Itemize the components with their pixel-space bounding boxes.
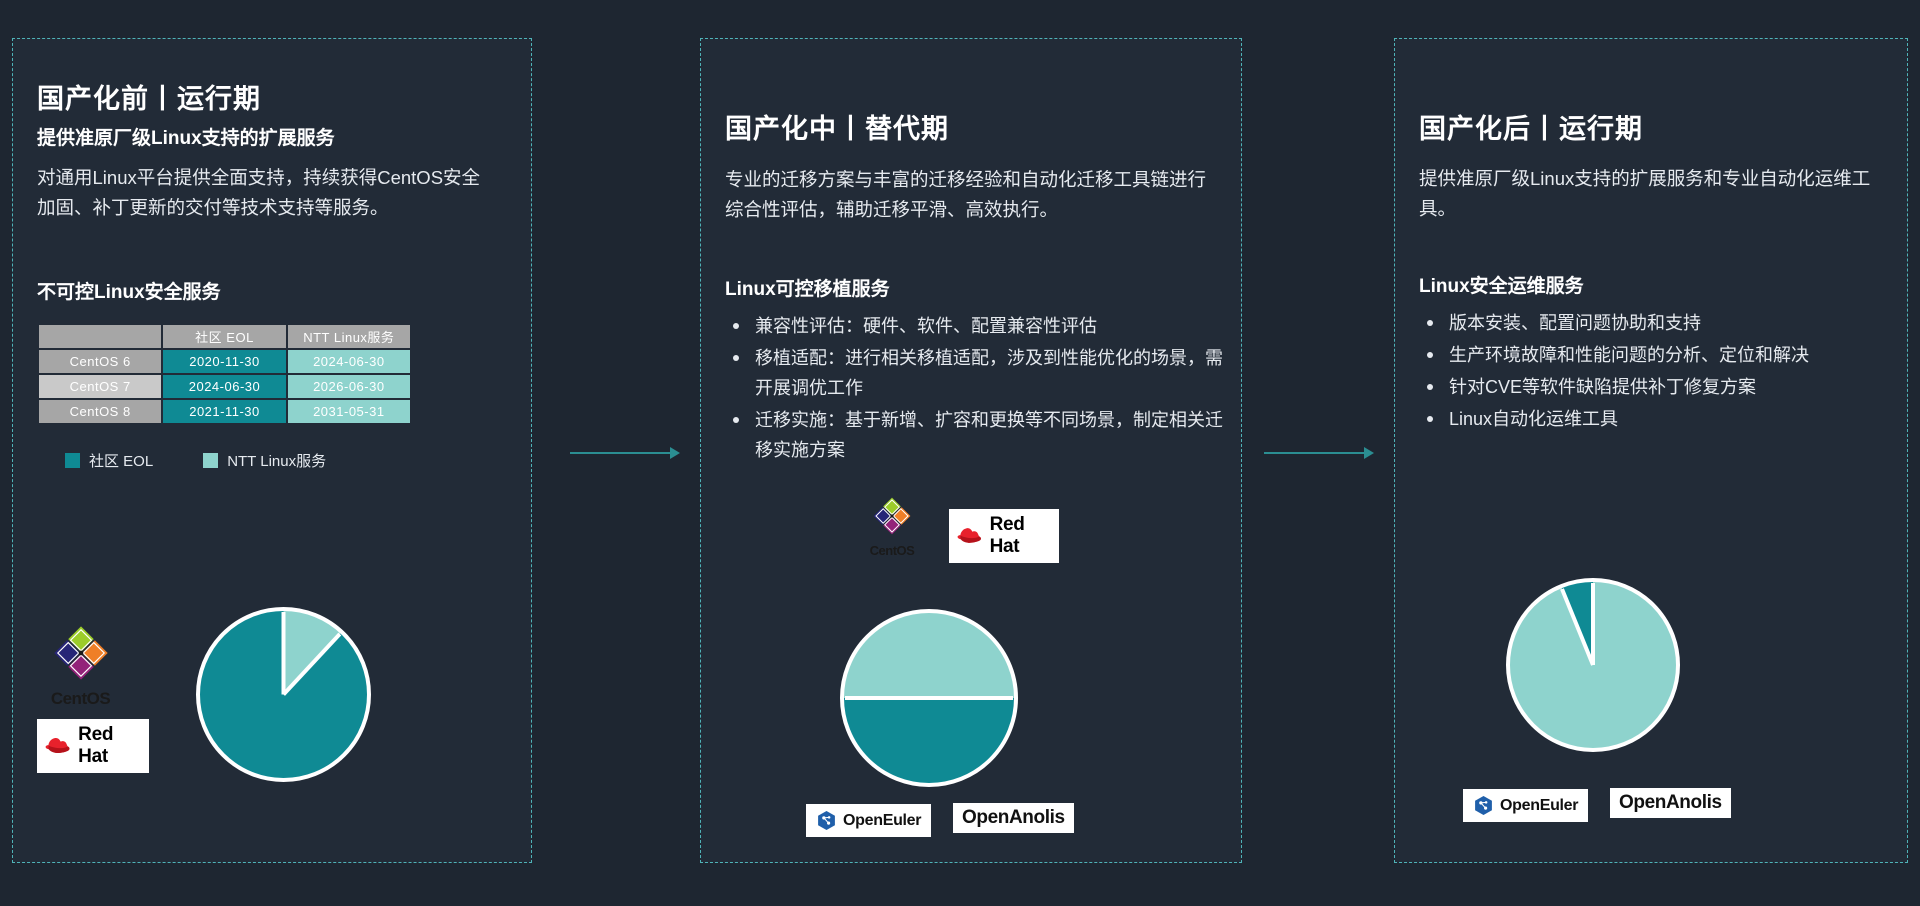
pie-separators [1510,582,1676,748]
legend-label: 社区 EOL [89,450,153,471]
redhat-logo: Red Hat [37,719,149,773]
arrow-connector-1 [570,445,680,461]
openeuler-logo: OpenEuler [1463,789,1588,822]
pie-separators [844,613,1014,783]
redhat-logo-text: Red Hat [78,724,139,768]
redhat-logo-text: Red Hat [990,514,1049,558]
centos-logo-text: CentOS [43,689,118,709]
panel-1-title: 国产化中丨替代期 [725,107,949,146]
row-eol-value: 2020-11-30 [163,350,285,373]
centos-mark-icon [872,496,912,536]
row-eol-value: 2024-06-30 [163,375,285,398]
openanolis-logo-text: OpenAnolis [962,807,1065,829]
row-ntt-value: 2024-06-30 [288,350,410,373]
pie-chart-during [840,609,1018,787]
row-eol-value: 2021-11-30 [163,400,285,423]
centos-logo: CentOS [43,624,118,709]
panel-1-section-head: Linux可控移植服务 [725,274,890,301]
panel-0-title: 国产化前丨运行期 [37,77,261,116]
centos-mark-icon [52,624,110,682]
legend-label: NTT Linux服务 [227,450,326,471]
panel-before-localization: 国产化前丨运行期 提供准原厂级Linux支持的扩展服务 对通用Linux平台提供… [12,38,532,863]
pie-legend: 社区 EOL NTT Linux服务 [65,450,326,471]
table-header-eol: 社区 EOL [163,325,285,348]
panel-2-paragraph: 提供准原厂级Linux支持的扩展服务和专业自动化运维工具。 [1419,164,1889,224]
redhat-fedora-icon [957,525,983,547]
openeuler-mark-icon [816,810,837,831]
openanolis-logo: OpenAnolis [953,803,1074,833]
openeuler-logo-text: OpenEuler [843,812,921,830]
list-item: 版本安装、配置问题协助和支持 [1419,309,1894,339]
list-item: Linux自动化运维工具 [1419,405,1894,435]
openeuler-mark-icon [1473,795,1494,816]
centos-logo-text: CentOS [863,543,921,558]
table-row: CentOS 8 2021-11-30 2031-05-31 [39,400,410,423]
redhat-logo: Red Hat [949,509,1059,563]
panel-after-localization: 国产化后丨运行期 提供准原厂级Linux支持的扩展服务和专业自动化运维工具。 L… [1394,38,1908,863]
list-item: 移植适配：进行相关移植适配，涉及到性能优化的场景，需开展调优工作 [725,344,1225,404]
centos-logo: CentOS [863,496,921,558]
arrow-connector-2 [1264,445,1374,461]
list-item: 生产环境故障和性能问题的分析、定位和解决 [1419,341,1894,371]
table-header-blank [39,325,161,348]
panel-2-bullet-list: 版本安装、配置问题协助和支持 生产环境故障和性能问题的分析、定位和解决 针对CV… [1419,309,1894,437]
row-label: CentOS 7 [39,375,161,398]
panel-2-title: 国产化后丨运行期 [1419,107,1643,146]
table-header-row: 社区 EOL NTT Linux服务 [39,325,410,348]
list-item: 迁移实施：基于新增、扩容和更换等不同场景，制定相关迁移实施方案 [725,406,1225,466]
row-label: CentOS 6 [39,350,161,373]
list-item: 兼容性评估：硬件、软件、配置兼容性评估 [725,312,1225,342]
legend-swatch-icon [203,453,218,468]
pie-chart-before [196,607,371,782]
panel-during-localization: 国产化中丨替代期 专业的迁移方案与丰富的迁移经验和自动化迁移工具链进行综合性评估… [700,38,1242,863]
panel-2-section-head: Linux安全运维服务 [1419,271,1584,298]
openeuler-logo: OpenEuler [806,804,931,837]
openeuler-logo-text: OpenEuler [1500,797,1578,815]
legend-swatch-icon [65,453,80,468]
table-header-ntt: NTT Linux服务 [288,325,410,348]
pie-separators [200,611,367,778]
openanolis-logo-text: OpenAnolis [1619,792,1722,814]
row-ntt-value: 2026-06-30 [288,375,410,398]
legend-item-eol: 社区 EOL [65,450,153,471]
openanolis-logo: OpenAnolis [1610,788,1731,818]
eol-table-wrapper: 社区 EOL NTT Linux服务 CentOS 6 2020-11-30 2… [37,323,412,425]
panel-1-bullet-list: 兼容性评估：硬件、软件、配置兼容性评估 移植适配：进行相关移植适配，涉及到性能优… [725,312,1225,467]
list-item: 针对CVE等软件缺陷提供补丁修复方案 [1419,373,1894,403]
panel-0-subtitle: 提供准原厂级Linux支持的扩展服务 [37,125,467,153]
panel-1-paragraph: 专业的迁移方案与丰富的迁移经验和自动化迁移工具链进行综合性评估，辅助迁移平滑、高… [725,165,1221,225]
slide-root: 国产化前丨运行期 提供准原厂级Linux支持的扩展服务 对通用Linux平台提供… [0,0,1920,906]
table-row: CentOS 7 2024-06-30 2026-06-30 [39,375,410,398]
panel-0-section-head: 不可控Linux安全服务 [37,277,221,304]
panel-0-paragraph: 对通用Linux平台提供全面支持，持续获得CentOS安全加固、补丁更新的交付等… [37,163,482,223]
legend-item-ntt: NTT Linux服务 [203,450,326,471]
table-row: CentOS 6 2020-11-30 2024-06-30 [39,350,410,373]
row-label: CentOS 8 [39,400,161,423]
eol-table: 社区 EOL NTT Linux服务 CentOS 6 2020-11-30 2… [37,323,412,425]
pie-chart-after [1506,578,1680,752]
redhat-fedora-icon [45,735,71,757]
row-ntt-value: 2031-05-31 [288,400,410,423]
